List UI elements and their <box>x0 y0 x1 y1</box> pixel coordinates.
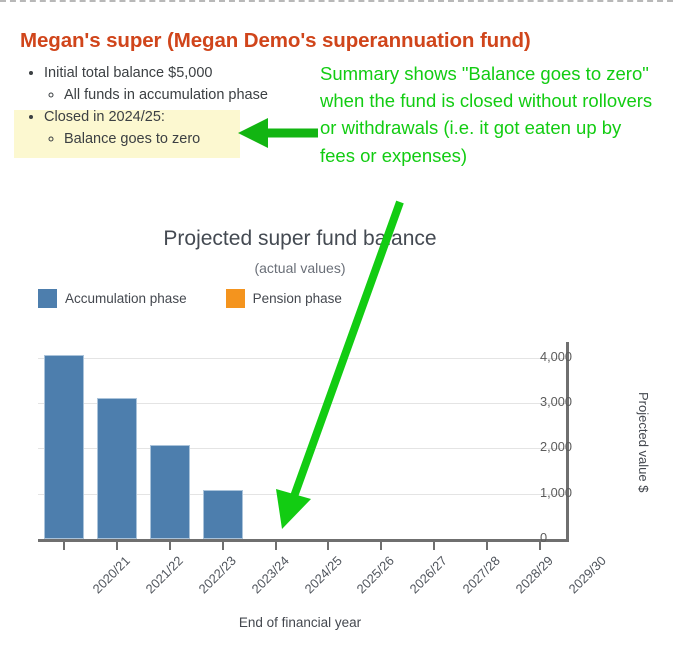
list-item-closed: Closed in 2024/25: Balance goes to zero <box>44 106 322 150</box>
legend-item-accumulation[interactable]: Accumulation phase <box>38 289 187 308</box>
x-axis-tick <box>275 542 277 550</box>
y-axis-tick-label: 0 <box>540 530 547 545</box>
y-axis-tick-label: 4,000 <box>540 349 572 364</box>
x-axis-tick <box>169 542 171 550</box>
x-axis-tick-label: 2021/22 <box>143 553 186 596</box>
x-axis-tick <box>486 542 488 550</box>
chart-bar[interactable] <box>150 445 190 539</box>
x-axis-tick <box>222 542 224 550</box>
chart-subtitle: (actual values) <box>0 260 600 276</box>
annotation-text: Summary shows "Balance goes to zero" whe… <box>320 60 655 169</box>
x-axis-tick-label: 2029/30 <box>565 553 608 596</box>
x-axis-tick-label: 2020/21 <box>90 553 133 596</box>
chart: Projected super fund balance (actual val… <box>0 227 673 646</box>
list-item-balance-zero: Balance goes to zero <box>64 128 322 150</box>
gridline <box>38 358 566 359</box>
x-axis-tick <box>380 542 382 550</box>
x-axis-tick-label: 2023/24 <box>248 553 291 596</box>
chart-title: Projected super fund balance <box>0 227 600 251</box>
x-axis-tick-label: 2026/27 <box>407 553 450 596</box>
legend-swatch-pension <box>226 289 245 308</box>
chart-bar[interactable] <box>97 398 137 539</box>
x-axis-tick <box>116 542 118 550</box>
x-axis-tick-label: 2024/25 <box>301 553 344 596</box>
x-axis-tick-label: 2025/26 <box>354 553 397 596</box>
legend-label-accumulation: Accumulation phase <box>65 291 187 306</box>
x-axis-tick-label: 2022/23 <box>196 553 239 596</box>
list-item-accumulation-phase: All funds in accumulation phase <box>64 84 322 106</box>
list-item-accumulation-phase-label: All funds in accumulation phase <box>64 87 268 103</box>
y-axis-tick-label: 2,000 <box>540 439 572 454</box>
x-axis-title: End of financial year <box>0 615 600 630</box>
x-axis-tick <box>63 542 65 550</box>
page-root: Megan's super (Megan Demo's superannuati… <box>0 0 673 644</box>
chart-plot-area <box>38 342 566 539</box>
x-axis-tick-label: 2028/29 <box>512 553 555 596</box>
list-item-closed-label: Closed in 2024/25: <box>44 109 165 125</box>
x-axis-tick <box>327 542 329 550</box>
legend-swatch-accumulation <box>38 289 57 308</box>
chart-legend: Accumulation phase Pension phase <box>38 289 342 308</box>
y-axis-tick-label: 3,000 <box>540 394 572 409</box>
summary-list: Initial total balance $5,000 All funds i… <box>22 62 322 150</box>
y-axis-tick-label: 1,000 <box>540 485 572 500</box>
y-axis-title: Projected value $ <box>629 342 651 542</box>
chart-bar[interactable] <box>203 490 243 539</box>
x-axis-tick <box>433 542 435 550</box>
page-title: Megan's super (Megan Demo's superannuati… <box>20 29 531 53</box>
legend-label-pension: Pension phase <box>253 291 342 306</box>
list-item-balance-zero-label: Balance goes to zero <box>64 131 200 147</box>
chart-bar[interactable] <box>44 355 84 539</box>
x-axis-tick-label: 2027/28 <box>460 553 503 596</box>
list-item-initial-balance-label: Initial total balance $5,000 <box>44 65 213 81</box>
legend-item-pension[interactable]: Pension phase <box>226 289 342 308</box>
list-item-initial-balance: Initial total balance $5,000 All funds i… <box>44 62 322 106</box>
